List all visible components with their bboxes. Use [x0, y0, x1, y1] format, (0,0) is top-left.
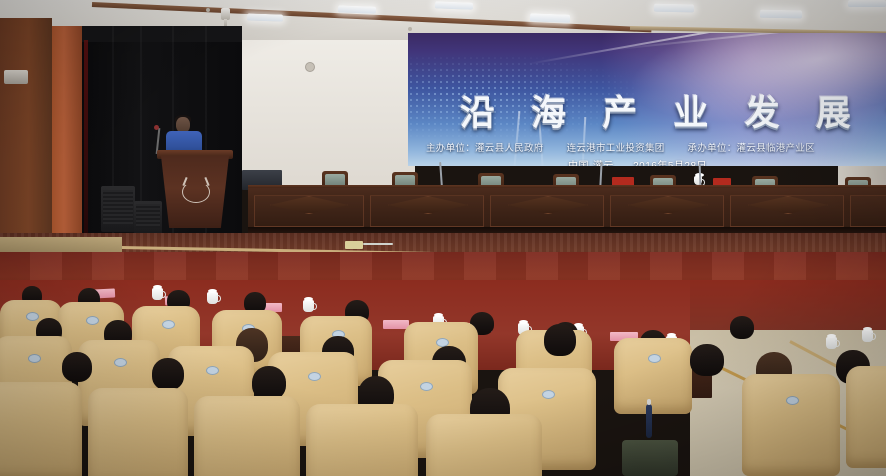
seat-r3-1-number-badge: [26, 312, 39, 321]
audience-head-r2-6: [544, 324, 576, 356]
seat-r3-8-number-badge: [648, 354, 661, 363]
seat-r3-8-back: [614, 338, 692, 414]
seat-r2-8[interactable]: [846, 366, 886, 468]
ceiling-light-1: [247, 13, 283, 21]
audience-head-r1f-2: [152, 358, 184, 390]
seat-r3-2-number-badge: [86, 316, 99, 325]
back-wall-white: [240, 40, 415, 188]
audience-head-r1f-1: [62, 352, 92, 382]
seat-r1-4[interactable]: [306, 404, 418, 476]
banner-date: 2016年5月28日: [633, 161, 707, 166]
audience-head-r2-7: [690, 344, 724, 376]
seat-r1-5[interactable]: [426, 414, 542, 476]
audience-teacup-3: [303, 300, 314, 312]
loudspeaker-small-grill: [136, 204, 160, 228]
conference-hall-photo: 沿 海 产 业 发 展 论 圵 主办单位：灌云县人民政府 连云港市工业投资集团 …: [0, 0, 886, 476]
ceiling-sprinkler-2: [408, 27, 412, 31]
seat-r2-3-number-badge: [206, 366, 219, 375]
curtain-valance: [82, 26, 242, 42]
table-mic-gooseneck-2: [599, 162, 602, 186]
ceiling-light-5: [654, 4, 694, 13]
audience-head-r1f-3: [252, 366, 286, 400]
ceiling-light-7: [848, 0, 886, 7]
audience-umbrella: [646, 404, 652, 438]
ceiling-sprinkler-1: [206, 8, 210, 12]
audience-teacup-2: [207, 292, 218, 304]
podium-microphone-icon: [154, 125, 159, 130]
banner-organizer-3: 承办单位：灌云县临港产业区: [688, 143, 815, 154]
seat-r1-5-back: [426, 414, 542, 476]
seat-r2-7-number-badge: [786, 396, 799, 405]
audience-teacup-1: [152, 288, 163, 300]
seat-r3-3-number-badge: [162, 320, 175, 329]
podium-emblem-icon: [182, 181, 210, 203]
loudspeaker-large-grill: [103, 190, 133, 224]
seat-r2-6-number-badge: [542, 390, 555, 399]
seat-r2-7[interactable]: [742, 374, 840, 476]
event-banner: 沿 海 产 业 发 展 论 圵 主办单位：灌云县人民政府 连云港市工业投资集团 …: [408, 33, 886, 166]
seat-r2-8-back: [846, 366, 886, 468]
seat-r3-8[interactable]: [614, 338, 692, 414]
seat-r2-1-number-badge: [28, 354, 41, 363]
banner-organizers: 主办单位：灌云县人民政府 连云港市工业投资集团 承办单位：灌云县临港产业区: [426, 140, 886, 154]
stage-cable-1: [363, 243, 393, 245]
audience-backpack: [622, 440, 678, 476]
ceiling-light-4: [530, 13, 570, 22]
audience-head-r1-9: [730, 316, 754, 339]
table-panel-6: [850, 195, 886, 227]
banner-location: 中国·灌云: [568, 161, 614, 166]
stage-prop-1: [345, 241, 363, 249]
seat-r1-4-back: [306, 404, 418, 476]
ceiling-light-3: [435, 1, 473, 9]
wall-ac-vent: [4, 70, 28, 84]
seat-r1-3-back: [194, 396, 300, 476]
stage-spotlight: [221, 8, 230, 20]
wall-clock-icon: [305, 62, 315, 72]
seat-r1-1-back: [0, 382, 82, 476]
seat-r2-4-number-badge: [308, 372, 321, 381]
banner-title: 沿 海 产 业 发 展 论 圵: [460, 85, 886, 136]
curtain-red-trim: [84, 40, 88, 240]
seat-r1-3[interactable]: [194, 396, 300, 476]
banner-organizer-2: 连云港市工业投资集团: [567, 143, 665, 154]
left-wall-panel: [0, 18, 52, 268]
ceiling-light-6: [760, 10, 802, 19]
seat-r1-2-back: [88, 388, 188, 476]
seat-r1-2[interactable]: [88, 388, 188, 476]
audience-teacup-8: [826, 337, 837, 349]
seat-r1-1[interactable]: [0, 382, 82, 476]
seat-r2-7-back: [742, 374, 840, 476]
table-mic-gooseneck-3: [699, 164, 701, 186]
banner-organizer-1: 主办单位：灌云县人民政府: [426, 143, 544, 154]
seat-r2-2-number-badge: [114, 358, 127, 367]
audience-teacup-9: [862, 330, 873, 342]
seat-r2-5-number-badge: [420, 382, 433, 391]
ceiling-light-2: [338, 5, 376, 13]
